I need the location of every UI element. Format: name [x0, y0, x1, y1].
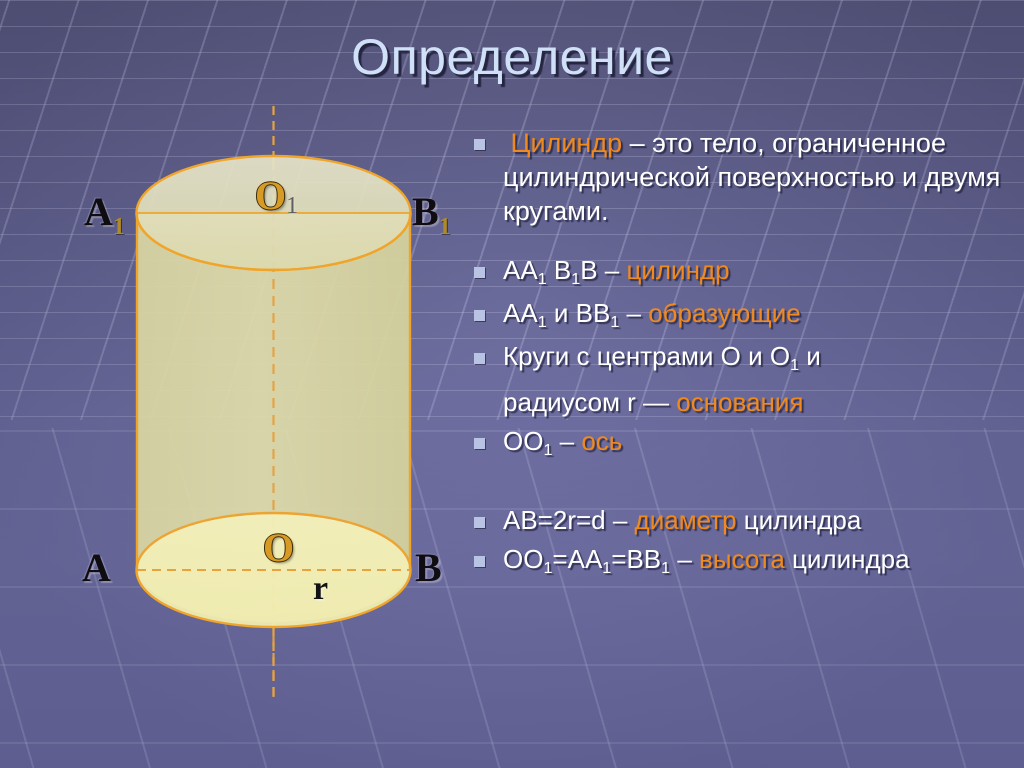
- term-bases: основания: [676, 387, 803, 417]
- bullet-item-diameter: AB=2r=d – диаметр цилиндра: [474, 504, 1022, 537]
- term-cylinder: цилиндр: [626, 255, 729, 285]
- vertex-label-A1-sub: 1: [113, 214, 125, 240]
- center-label-O1-main: O: [255, 173, 286, 218]
- txt-dash: –: [552, 426, 581, 456]
- bullet-text-cylinder-solid: AA1 B1B – цилиндр: [503, 254, 730, 291]
- radius-label-r: r: [313, 572, 328, 606]
- bullet-definition-term: Цилиндр: [511, 128, 623, 158]
- center-label-O1-sub: 1: [286, 193, 298, 219]
- txt-and-bb: и BB: [547, 298, 611, 328]
- sub-1: 1: [538, 313, 547, 331]
- radius-label-r-main: r: [313, 570, 328, 607]
- term-diameter: диаметр: [635, 505, 737, 535]
- bullet-text-height: OO1=AA1=BB1 – высота цилиндра: [503, 543, 910, 580]
- bullet-text-bases-line2: радиусом r — основания: [503, 386, 821, 419]
- bullet-item-cylinder-solid: AA1 B1B – цилиндр: [474, 254, 1022, 291]
- txt-oo: OO: [503, 544, 543, 574]
- sub-1: 1: [610, 313, 619, 331]
- txt-aa: AA: [503, 298, 538, 328]
- vertex-label-A: A: [82, 548, 111, 588]
- vertex-label-B1: B1: [412, 192, 451, 247]
- vertex-label-B: B: [415, 548, 442, 588]
- txt-b-dash: B –: [580, 255, 626, 285]
- bullet-item-definition: Цилиндр – это тело, ограниченное цилиндр…: [474, 126, 1022, 228]
- spacer: [474, 462, 1022, 488]
- bullet-text-axis: OO1 – ось: [503, 425, 622, 462]
- sub-1: 1: [790, 356, 799, 374]
- txt-aa: AA: [503, 255, 538, 285]
- bullet-text-generators: AA1 и BB1 – образующие: [503, 297, 801, 334]
- txt-of-cylinder: цилиндра: [785, 544, 910, 574]
- sub-1: 1: [602, 559, 611, 577]
- sub-1: 1: [661, 559, 670, 577]
- bullet-square-icon: [474, 438, 485, 449]
- txt-ab-eq: AB=2r=d –: [503, 505, 635, 535]
- content-bullet-list: Цилиндр – это тело, ограниченное цилиндр…: [474, 126, 1022, 580]
- txt-eq-bb: =BB: [611, 544, 661, 574]
- vertex-label-B1-sub: 1: [439, 214, 451, 240]
- bullet-text-definition: Цилиндр – это тело, ограниченное цилиндр…: [503, 126, 1022, 228]
- vertex-label-A1: A1: [84, 192, 125, 247]
- spacer: [474, 488, 1022, 504]
- center-label-O1: O1: [255, 176, 298, 220]
- term-height: высота: [699, 544, 785, 574]
- bullet-square-icon: [474, 517, 485, 528]
- bullet-square-icon: [474, 267, 485, 278]
- cylinder-svg: [0, 0, 470, 768]
- term-axis: ось: [581, 426, 622, 456]
- txt-radius: радиусом r —: [503, 387, 676, 417]
- txt-and: и: [799, 341, 821, 371]
- bullet-text-diameter: AB=2r=d – диаметр цилиндра: [503, 504, 861, 537]
- txt-oo: OO: [503, 426, 543, 456]
- bullet-item-bases: Круги с центрами O и O1 и радиусом r — о…: [474, 340, 1022, 419]
- center-label-O: O: [263, 528, 294, 568]
- term-generators: образующие: [648, 298, 800, 328]
- vertex-label-B-main: B: [415, 545, 442, 590]
- bullet-text-bases-wrapper: Круги с центрами O и O1 и радиусом r — о…: [503, 340, 821, 419]
- bullet-square-icon: [474, 139, 485, 150]
- sub-1: 1: [571, 270, 580, 288]
- vertex-label-B1-main: B: [412, 189, 439, 234]
- txt-eq-aa: =AA: [552, 544, 602, 574]
- bullet-square-icon: [474, 353, 485, 364]
- vertex-label-A1-main: A: [84, 189, 113, 234]
- center-label-O-main: O: [263, 525, 294, 570]
- txt-circles-centers: Круги с центрами O и O: [503, 341, 790, 371]
- sub-1: 1: [543, 559, 552, 577]
- bullet-item-generators: AA1 и BB1 – образующие: [474, 297, 1022, 334]
- sub-1: 1: [543, 441, 552, 459]
- bullet-square-icon: [474, 556, 485, 567]
- spacer: [474, 228, 1022, 254]
- bullet-square-icon: [474, 310, 485, 321]
- vertex-label-A-main: A: [82, 545, 111, 590]
- txt-b: B: [547, 255, 572, 285]
- txt-of-cylinder: цилиндра: [737, 505, 862, 535]
- bullet-text-bases-line1: Круги с центрами O и O1 и: [503, 340, 821, 377]
- cylinder-diagram: A1 O1 B1 A O r B: [0, 0, 470, 768]
- bullet-item-axis: OO1 – ось: [474, 425, 1022, 462]
- txt-dash: –: [670, 544, 699, 574]
- bullet-item-height: OO1=AA1=BB1 – высота цилиндра: [474, 543, 1022, 580]
- txt-dash: –: [619, 298, 648, 328]
- sub-1: 1: [538, 270, 547, 288]
